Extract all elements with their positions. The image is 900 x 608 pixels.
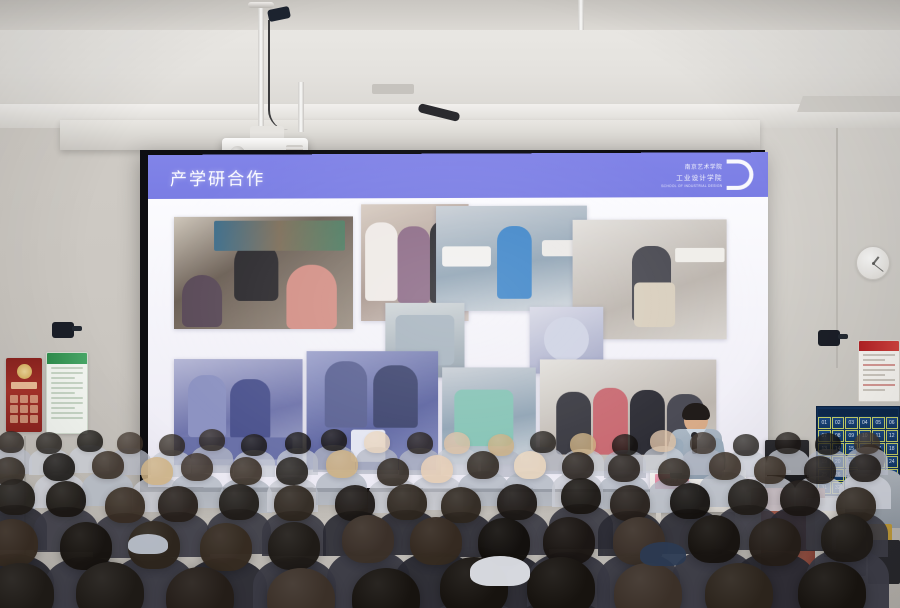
ceiling-beam-upper — [0, 0, 900, 30]
audience-cap — [128, 534, 168, 554]
lecture-hall-photo: 0102030405060708091011121314151617181920… — [0, 0, 900, 608]
wall-speaker-right-icon — [818, 330, 840, 346]
wall-speaker-left-icon — [52, 322, 74, 338]
audience-head — [690, 432, 716, 454]
audience-head — [241, 434, 267, 456]
audience-head — [849, 454, 881, 482]
audience-head — [159, 434, 185, 456]
audience-head — [326, 450, 358, 478]
audience-head — [158, 486, 198, 522]
logo-line-3: SCHOOL OF INDUSTRIAL DESIGN — [661, 183, 722, 187]
audience-head — [441, 487, 481, 523]
poster-right-header — [859, 341, 899, 351]
audience-head — [410, 517, 462, 565]
audience-head — [200, 523, 252, 571]
clock-center-pin — [872, 262, 875, 265]
audience-head — [561, 478, 601, 514]
audience-head — [407, 432, 433, 454]
audience-head — [444, 432, 470, 454]
audience-head — [530, 431, 556, 453]
audience-head — [754, 456, 786, 484]
secondary-pole — [298, 82, 304, 132]
audience-head — [612, 434, 638, 456]
audience-head — [387, 484, 427, 520]
slide-photo-washroom-cleaning — [436, 206, 587, 311]
audience-head — [608, 454, 640, 482]
audience-head — [141, 457, 173, 485]
audience-head — [77, 430, 103, 452]
audience-head — [276, 457, 308, 485]
audience-head — [670, 483, 710, 519]
slide-header-bar: 产学研合作 南京艺术学院 工业设计学院 SCHOOL OF INDUSTRIAL… — [148, 152, 768, 199]
audience-head — [0, 479, 35, 515]
audience-head — [219, 484, 259, 520]
audience-head — [268, 522, 320, 570]
audience — [0, 438, 900, 608]
presenter-hair — [682, 403, 710, 420]
slide-title: 产学研合作 — [170, 164, 265, 189]
institution-logo: 南京艺术学院 工业设计学院 SCHOOL OF INDUSTRIAL DESIG… — [661, 159, 753, 190]
audience-head — [467, 451, 499, 479]
audience-head — [610, 485, 650, 521]
key-board-cell[interactable]: 01 — [818, 417, 831, 429]
audience-head — [658, 458, 690, 486]
audience-head — [36, 432, 62, 454]
projector-pole — [258, 4, 264, 140]
audience-head — [117, 432, 143, 454]
audience-cap — [470, 556, 530, 586]
audience-head — [199, 429, 225, 451]
audience-cap — [640, 542, 686, 566]
audience-head — [421, 455, 453, 483]
poster-red-title — [11, 382, 37, 389]
audience-head — [92, 451, 124, 479]
number-board-header — [818, 409, 898, 416]
key-board-cell[interactable]: 05 — [872, 417, 885, 429]
audience-head — [733, 434, 759, 456]
key-board-cell[interactable]: 06 — [886, 417, 899, 429]
wall-clock — [856, 246, 890, 280]
poster-red-notice — [6, 358, 42, 432]
audience-head — [274, 485, 314, 521]
audience-head — [804, 456, 836, 484]
audience-head — [728, 479, 768, 515]
audience-head — [854, 432, 880, 454]
audience-head — [821, 514, 873, 562]
projector-ceiling-plate — [248, 2, 274, 8]
screen-housing-box — [60, 120, 760, 150]
slide-photo-workshop-library-session — [174, 216, 353, 329]
audience-head — [364, 431, 390, 453]
poster-right-notice — [858, 340, 900, 402]
key-board-cell[interactable]: 02 — [832, 417, 845, 429]
key-board-cell[interactable]: 04 — [859, 417, 872, 429]
logo-line-2: 工业设计学院 — [676, 172, 722, 182]
audience-head — [749, 518, 801, 566]
audience-head — [562, 452, 594, 480]
audience-head — [105, 487, 145, 523]
audience-head — [650, 430, 676, 452]
audience-head — [688, 515, 740, 563]
key-board-cell[interactable]: 03 — [845, 417, 858, 429]
right-ceiling-pole-top — [578, 0, 584, 30]
audience-head — [780, 480, 820, 516]
audience-head — [285, 432, 311, 454]
audience-head — [775, 432, 801, 454]
emblem-icon — [17, 364, 32, 379]
audience-head — [342, 515, 394, 563]
audience-head — [43, 453, 75, 481]
logo-d-mark-icon — [727, 159, 754, 190]
audience-head — [497, 484, 537, 520]
poster-red-grid — [6, 391, 42, 427]
ceiling-recess — [797, 96, 900, 112]
audience-head — [377, 458, 409, 486]
audience-head — [527, 557, 595, 608]
poster-green-notice — [46, 352, 88, 434]
logo-line-1: 南京艺术学院 — [685, 162, 723, 170]
audience-head — [709, 452, 741, 480]
audience-head — [181, 453, 213, 481]
projector-cable — [268, 20, 288, 130]
audience-head — [488, 434, 514, 456]
audience-head — [514, 451, 546, 479]
audience-head — [46, 481, 86, 517]
audience-head — [321, 429, 347, 451]
audience-head — [0, 431, 24, 453]
ceiling-vent — [372, 84, 414, 94]
audience-head — [815, 433, 841, 455]
audience-head — [230, 457, 262, 485]
poster-green-header — [47, 353, 87, 364]
